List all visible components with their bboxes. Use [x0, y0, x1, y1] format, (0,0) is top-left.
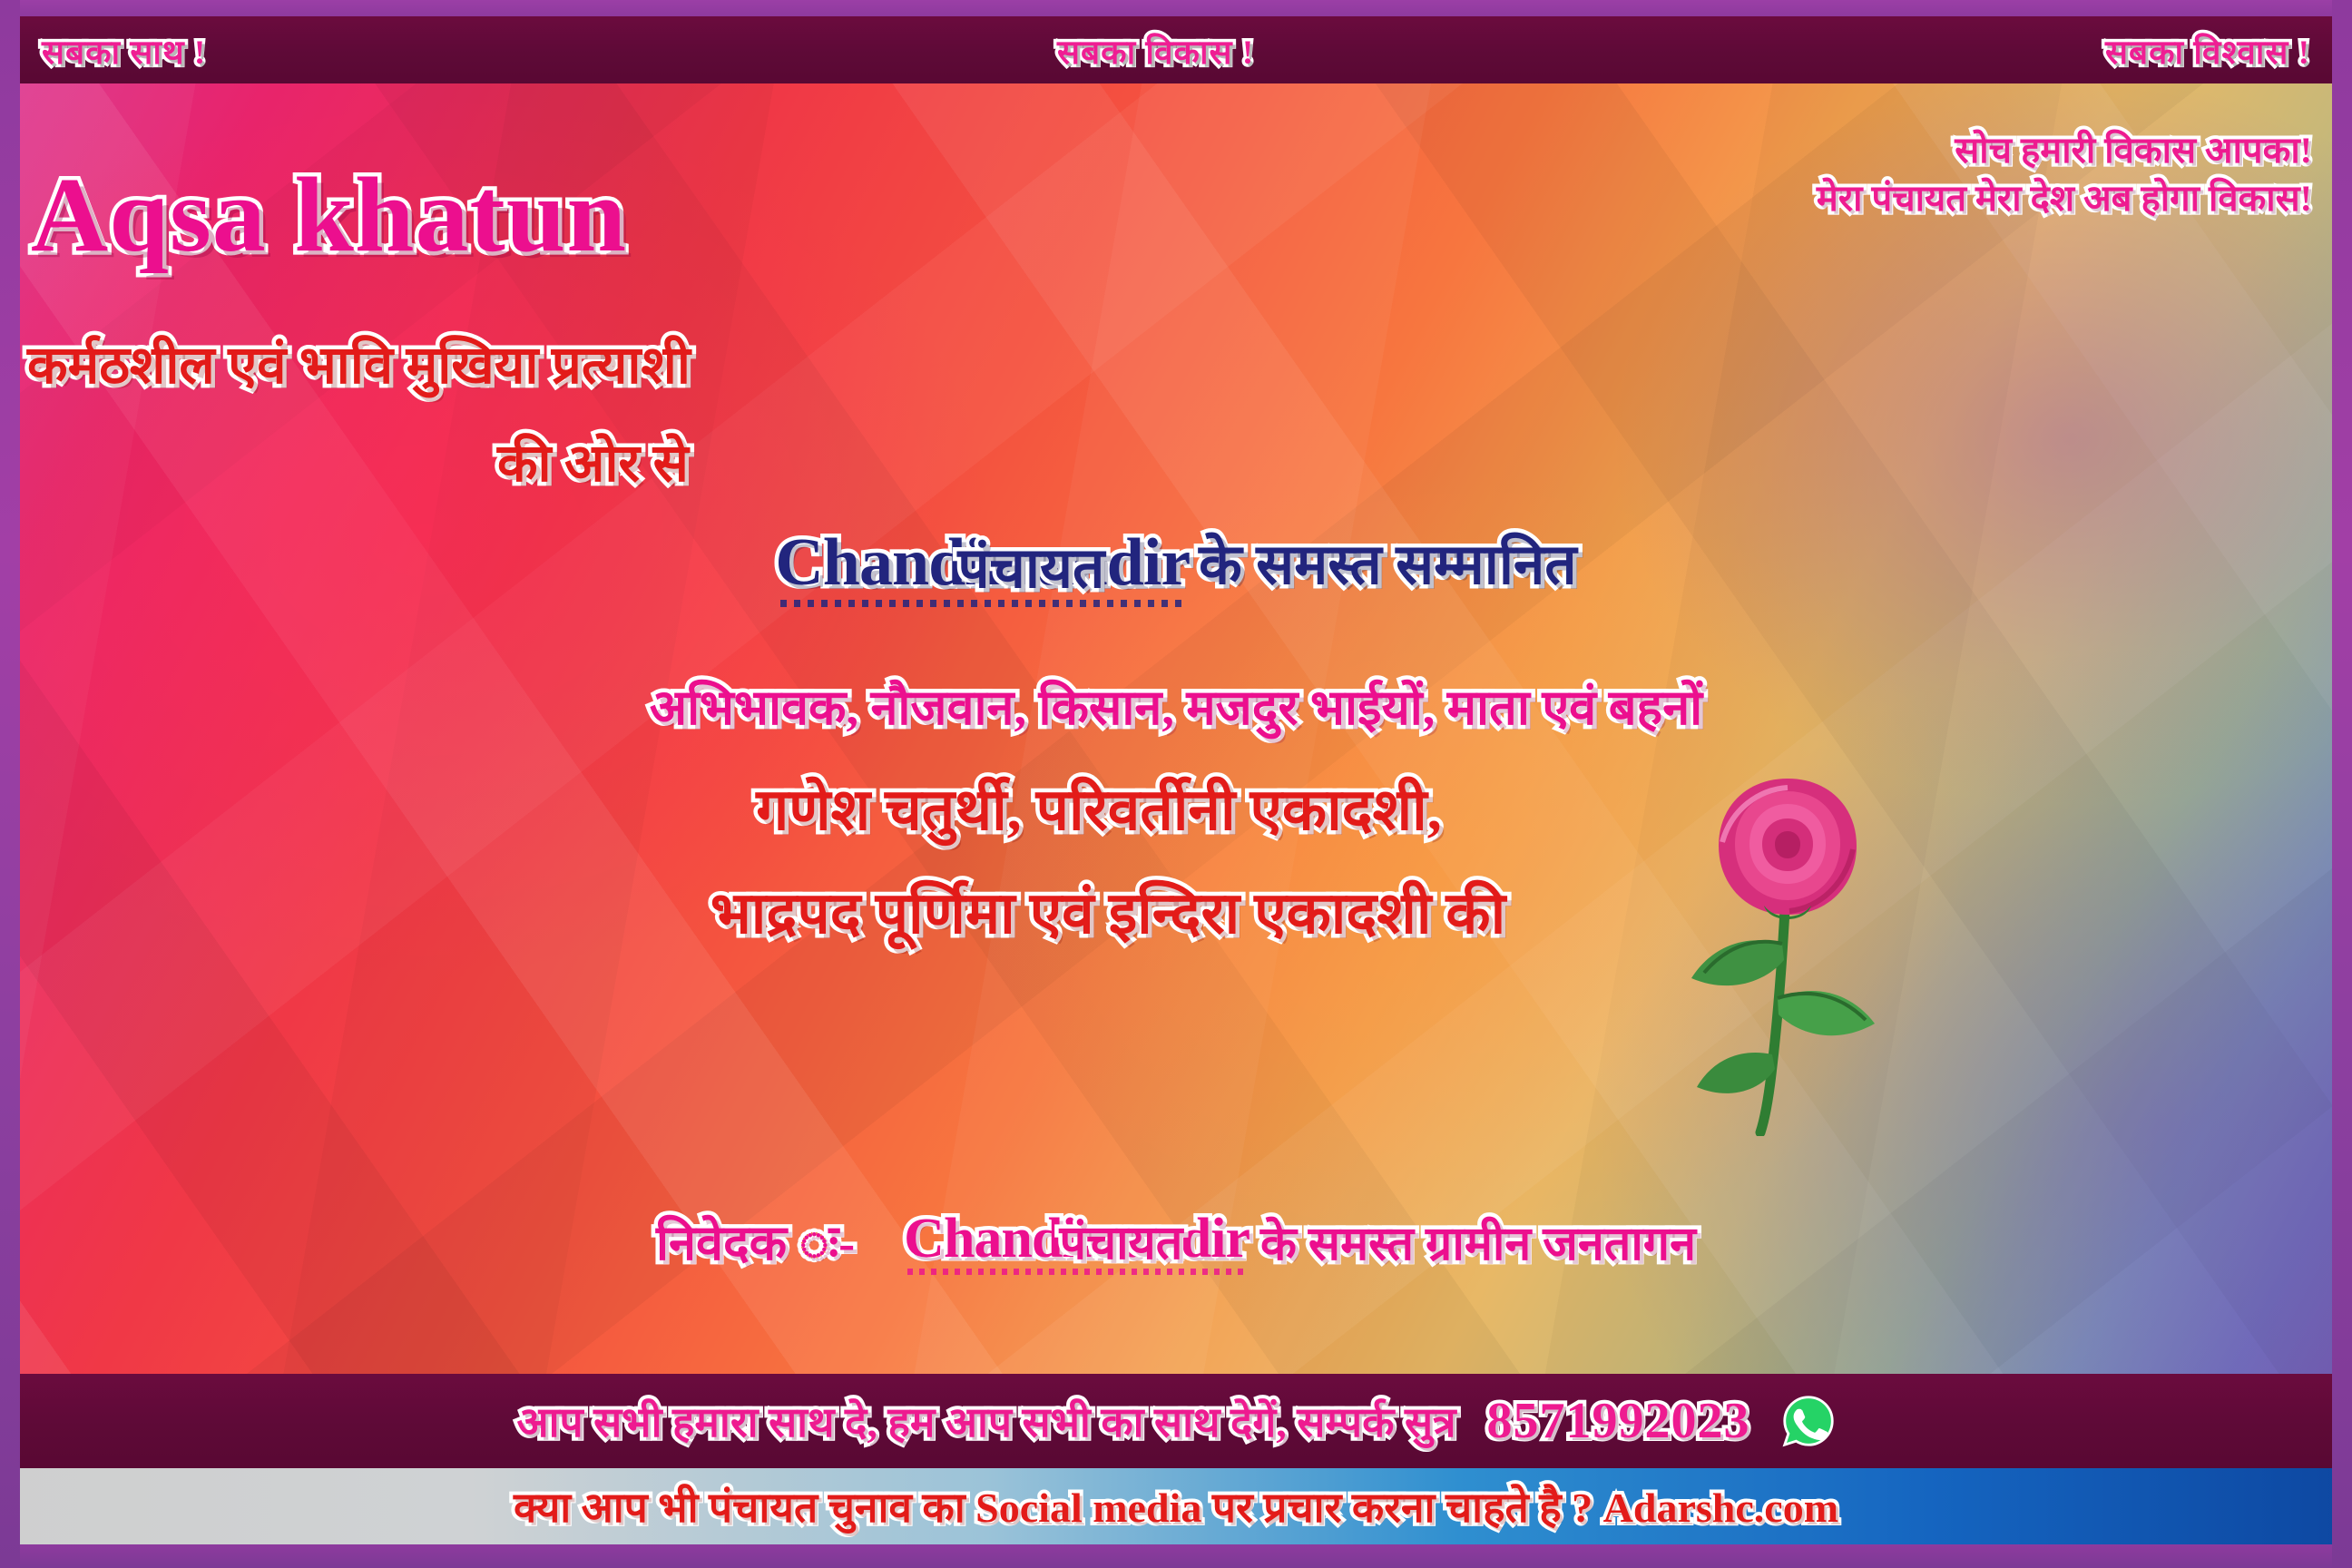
bottom-contact-bar: आप सभी हमारा साथ दे, हम आप सभी का साथ दे… [0, 1374, 2352, 1468]
nivedak-tail-text: के समस्त ग्रामीन जनतागन [1260, 1219, 1696, 1270]
from-line: की ओर से [497, 425, 689, 496]
campaign-poster: सबका साथ ! सबका विकास ! सबका विश्वास ! A… [0, 0, 2352, 1568]
bottom-purple-strip [0, 1544, 2352, 1568]
panchayat-name-hindi: पंचायत [957, 528, 1104, 604]
audience-line: अभिभावक, नौजवान, किसान, मजदुर भाईयों, मा… [0, 671, 2352, 739]
slogan-sabka-vikas: सबका विकास ! [1057, 27, 1254, 73]
nivedak-row: निवेदक ः- Chandimandir पंचायत के समस्त ग… [0, 1207, 2352, 1274]
panchayat-overlap-group: Chandimandir पंचायत [775, 524, 1190, 602]
right-purple-rail [2332, 0, 2352, 1568]
festival-line-1: गणेश चतुर्थी, परिवर्तीनी एकादशी, [0, 768, 2352, 847]
contact-phone-number[interactable]: 8571992023 [1487, 1392, 1750, 1450]
nivedak-panchayat-hindi: पंचायत [1060, 1209, 1183, 1273]
panchayat-tail-text: के समस्त सम्मानित [1199, 534, 1576, 596]
dotted-underline [780, 600, 1186, 607]
footer-promo-text[interactable]: क्या आप भी पंचायत चुनाव का Social media … [514, 1478, 1838, 1534]
tagline-soch-hamari: सोच हमारी विकास आपका! [1817, 127, 2312, 175]
top-slogan-bar: सबका साथ ! सबका विकास ! सबका विश्वास ! [0, 16, 2352, 83]
nivedak-panchayat-overlap-group: Chandimandir पंचायत [904, 1207, 1249, 1271]
top-purple-strip [0, 0, 2352, 16]
support-message: आप सभी हमारा साथ दे, हम आप सभी का साथ दे… [517, 1393, 1456, 1449]
slogan-sabka-vishwas: सबका विश्वास ! [2105, 27, 2310, 73]
footer-promo-strip: क्या आप भी पंचायत चुनाव का Social media … [0, 1468, 2352, 1544]
festival-line-2: भाद्रपद पूर्णिमा एवं इन्दिरा एकादशी की [0, 871, 2352, 950]
tagline-mera-panchayat: मेरा पंचायत मेरा देश अब होगा विकास! [1817, 175, 2312, 223]
panchayat-heading-row: Chandimandir पंचायत के समस्त सम्मानित [0, 524, 2352, 602]
role-line: कर्मठशील एवं भावि मुखिया प्रत्याशी [27, 327, 691, 398]
header-taglines: सोच हमारी विकास आपका! मेरा पंचायत मेरा द… [1817, 127, 2312, 223]
candidate-name: Aqsa khatun [31, 162, 627, 269]
slogan-sabka-saath: सबका साथ ! [42, 27, 206, 73]
nivedak-label: निवेदक ः- [656, 1216, 855, 1270]
left-purple-rail [0, 0, 20, 1568]
whatsapp-icon[interactable] [1781, 1394, 1836, 1448]
nivedak-dotted-underline [907, 1269, 1248, 1275]
